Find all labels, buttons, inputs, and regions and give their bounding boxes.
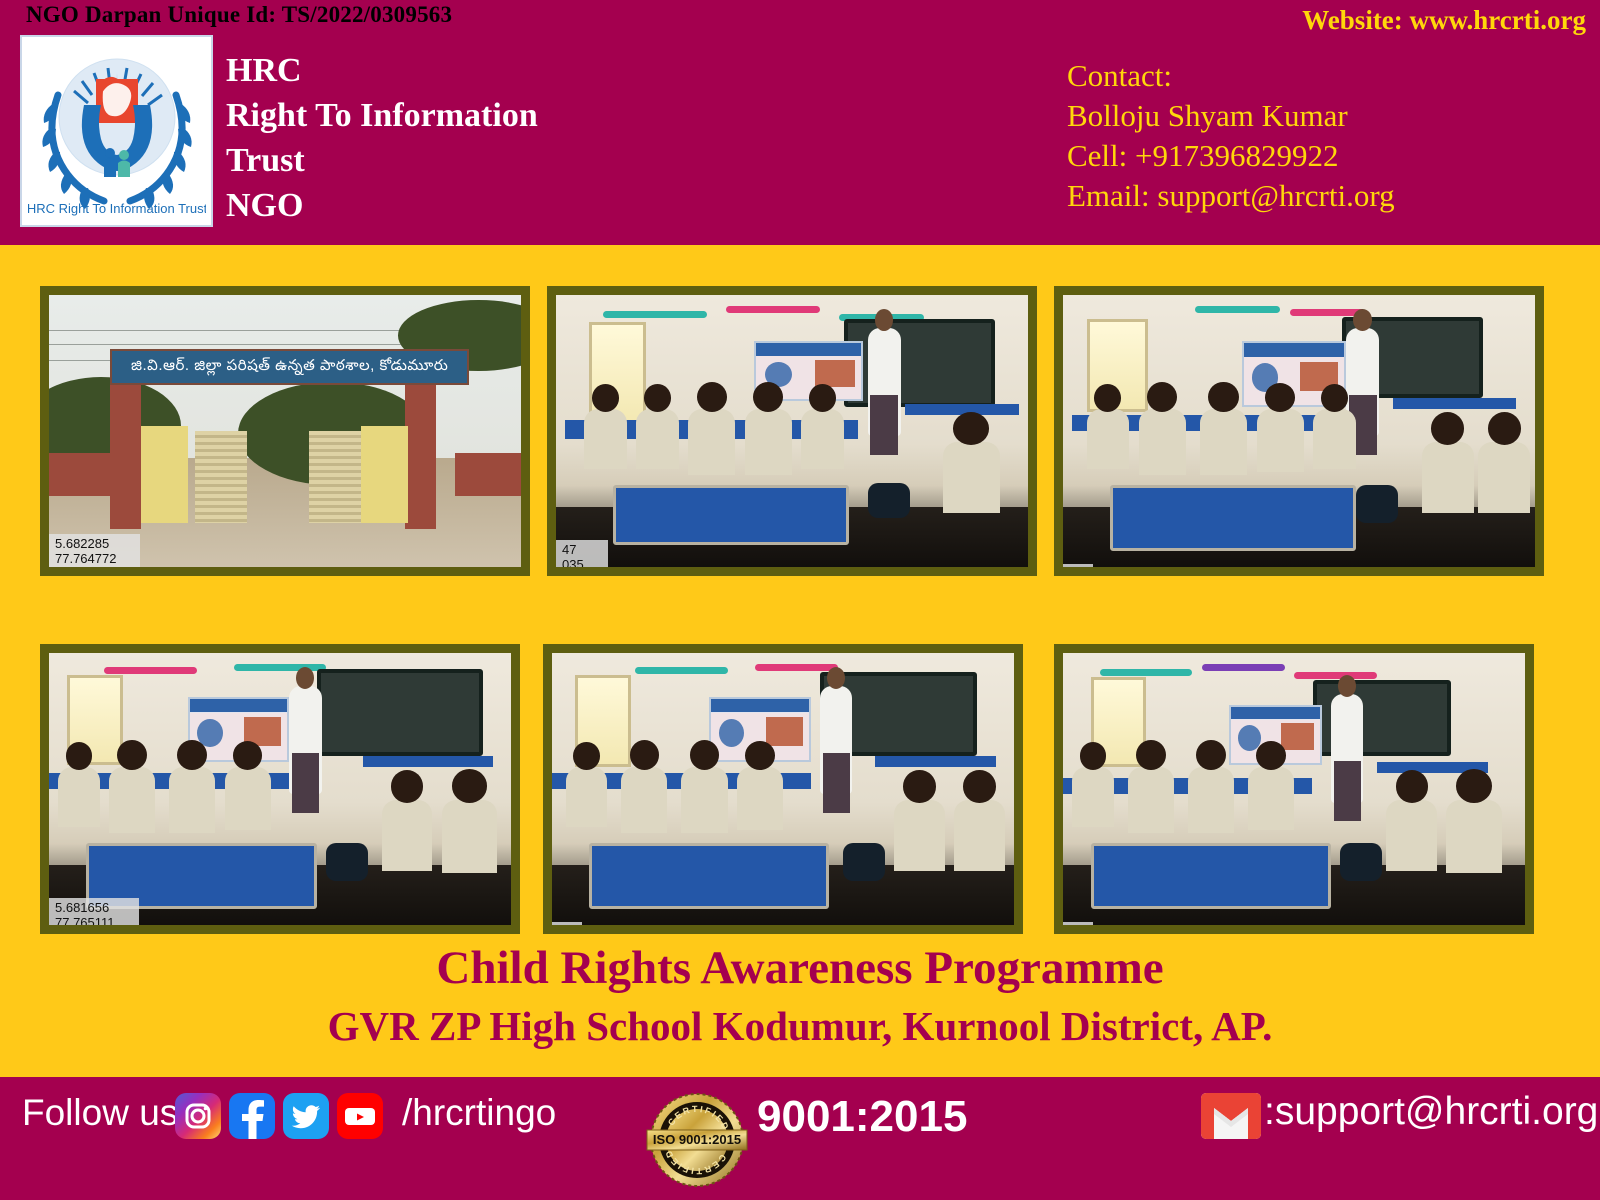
- contact-cell[interactable]: Cell: +917396829922: [1067, 136, 1395, 176]
- social-handle[interactable]: /hrcrtingo: [402, 1092, 556, 1134]
- hrc-logo-icon: HRC Right To Information Trust: [28, 43, 206, 219]
- photo-card-school-gate[interactable]: జి.వి.ఆర్. జిల్లా పరిషత్ ఉన్నత పాఠశాల, క…: [40, 286, 530, 576]
- follow-us-label: Follow us:: [22, 1092, 189, 1134]
- gps-overlay: [1063, 564, 1093, 567]
- page-header: NGO Darpan Unique Id: TS/2022/0309563: [0, 0, 1600, 245]
- website-link[interactable]: Website: www.hrcrti.org: [1302, 5, 1586, 36]
- school-signboard-text: జి.వి.ఆర్. జిల్లా పరిషత్ ఉన్నత పాఠశాల, క…: [131, 357, 448, 378]
- photo-classroom-1: 47 035: [556, 295, 1028, 567]
- photo-card-classroom-3[interactable]: 5.681656 77.765111: [40, 644, 520, 934]
- organisation-logo: HRC Right To Information Trust: [20, 35, 213, 227]
- photo-classroom-2: [1063, 295, 1535, 567]
- photo-card-classroom-1[interactable]: 47 035: [547, 286, 1037, 576]
- contact-label: Contact:: [1067, 56, 1395, 96]
- gps-overlay: 5.681656 77.765111: [49, 898, 139, 925]
- contact-person: Bolloju Shyam Kumar: [1067, 96, 1395, 136]
- school-signboard: జి.వి.ఆర్. జిల్లా పరిషత్ ఉన్నత పాఠశాల, క…: [110, 349, 469, 384]
- photo-classroom-3: 5.681656 77.765111: [49, 653, 511, 925]
- footer-email[interactable]: :support@hrcrti.org: [1264, 1090, 1598, 1134]
- gps-overlay: 47 035: [556, 540, 608, 567]
- logo-caption: HRC Right To Information Trust: [28, 201, 206, 216]
- iso-standard-text: 9001:2015: [757, 1092, 967, 1142]
- photo-classroom-5: [1063, 653, 1525, 925]
- photo-school-gate: జి.వి.ఆర్. జిల్లా పరిషత్ ఉన్నత పాఠశాల, క…: [49, 295, 521, 567]
- photo-card-classroom-5[interactable]: [1054, 644, 1534, 934]
- contact-email[interactable]: Email: support@hrcrti.org: [1067, 176, 1395, 216]
- programme-venue: GVR ZP High School Kodumur, Kurnool Dist…: [0, 998, 1600, 1054]
- programme-title-block: Child Rights Awareness Programme GVR ZP …: [0, 938, 1600, 1054]
- facebook-icon[interactable]: [229, 1093, 275, 1139]
- iso-seal-band: ISO 9001:2015: [653, 1132, 741, 1147]
- photo-card-classroom-4[interactable]: [543, 644, 1023, 934]
- twitter-icon[interactable]: [283, 1093, 329, 1139]
- contact-block: Contact: Bolloju Shyam Kumar Cell: +9173…: [1067, 56, 1395, 216]
- photo-card-classroom-2[interactable]: [1054, 286, 1544, 576]
- programme-title: Child Rights Awareness Programme: [0, 938, 1600, 998]
- gps-overlay: 5.682285 77.764772: [49, 534, 140, 567]
- instagram-icon[interactable]: [175, 1093, 221, 1139]
- gps-overlay: [552, 922, 582, 925]
- social-links[interactable]: [175, 1093, 383, 1139]
- gps-overlay: [1063, 922, 1093, 925]
- gmail-icon: [1200, 1092, 1262, 1140]
- iso-certified-seal: CERTIFIED CERTIFIED ISO 9001:2015: [645, 1088, 749, 1192]
- photo-classroom-4: [552, 653, 1014, 925]
- organisation-name: HRC Right To Information Trust NGO: [226, 48, 538, 228]
- youtube-icon[interactable]: [337, 1093, 383, 1139]
- ngo-darpan-id: NGO Darpan Unique Id: TS/2022/0309563: [26, 2, 452, 28]
